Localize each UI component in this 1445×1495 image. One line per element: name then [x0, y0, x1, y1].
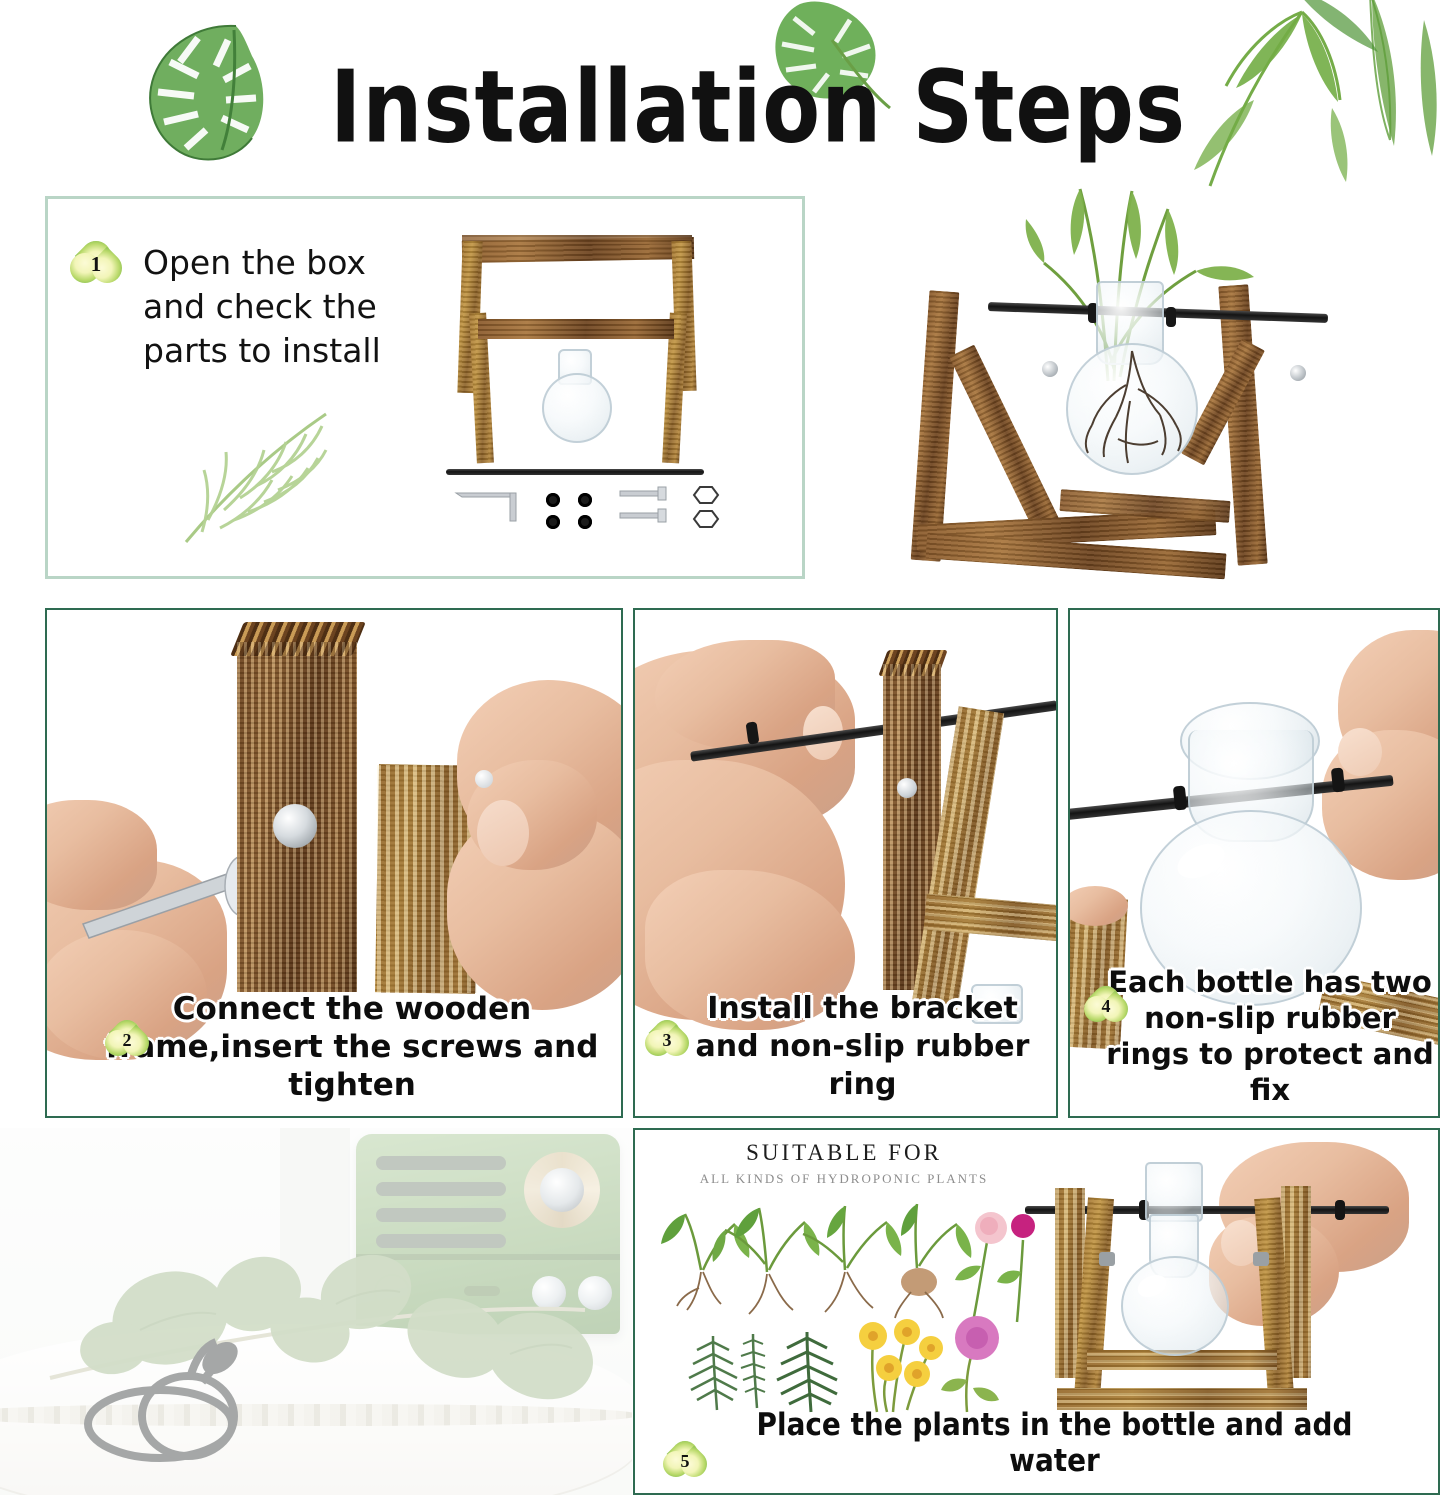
- step-1-panel: 1 Open the box and check the parts to in…: [45, 196, 805, 579]
- fern-frond-thin: [741, 1334, 765, 1408]
- nuts-icon: [690, 485, 724, 533]
- rooted-cutting-3: [803, 1206, 901, 1312]
- fern-frond-1: [689, 1336, 737, 1410]
- step-2-number: 2: [105, 1020, 149, 1060]
- monstera-leaf-icon: [140, 18, 320, 168]
- plant-roots-icon: [1068, 345, 1200, 477]
- screws-icon: [618, 485, 676, 531]
- step-3-badge: 3: [645, 1020, 689, 1060]
- step-5-caption: Place the plants in the bottle and add w…: [675, 1407, 1398, 1479]
- assembled-stand-photo: [1013, 1156, 1433, 1436]
- pink-rose: [955, 1212, 1007, 1322]
- rooted-cutting-2: [713, 1208, 820, 1314]
- rubber-ring-right: [1331, 767, 1345, 792]
- step-5-badge: 5: [663, 1441, 707, 1481]
- step-3-caption: Install the bracket and non-slip rubber …: [635, 990, 1056, 1104]
- hydroponic-propagation-station-photo: [880, 195, 1360, 585]
- suitable-for-title: SUITABLE FOR: [649, 1140, 1039, 1166]
- fingernail: [477, 800, 529, 866]
- header: Installation Steps: [0, 0, 1445, 185]
- fingernail: [1338, 728, 1382, 776]
- step-2-badge: 2: [105, 1020, 149, 1060]
- step-5-panel: SUITABLE FOR ALL KINDS OF HYDROPONIC PLA…: [633, 1128, 1440, 1495]
- clover-badge-icon: 2: [105, 1020, 149, 1060]
- step-5-number: 5: [663, 1441, 707, 1481]
- step-3-panel: 3 Install the bracket and non-slip rubbe…: [633, 608, 1058, 1118]
- clover-badge-icon: 3: [645, 1020, 689, 1060]
- suitable-for-block: SUITABLE FOR ALL KINDS OF HYDROPONIC PLA…: [649, 1140, 1039, 1430]
- allen-key-icon: [452, 485, 524, 525]
- fern-frond-2: [777, 1332, 837, 1412]
- styled-tabletop-photo: [0, 1128, 632, 1495]
- step-4-badge: 4: [1084, 986, 1128, 1026]
- step-4-panel: 4 Each bottle has two non-slip rubber ri…: [1068, 608, 1440, 1118]
- suitable-for-subtitle: ALL KINDS OF HYDROPONIC PLANTS: [649, 1171, 1039, 1187]
- parts-layout-photo: [438, 221, 783, 561]
- rooted-bulb-plant: [895, 1204, 971, 1318]
- step-1-text: Open the box and check the parts to inst…: [143, 241, 408, 373]
- pink-aster: [941, 1316, 999, 1412]
- rubber-ring-left: [1173, 785, 1187, 810]
- step-1-badge: 1: [70, 241, 122, 287]
- step-3-number: 3: [645, 1020, 689, 1060]
- palm-leaf-decor-icon: [168, 394, 348, 549]
- clover-badge-icon: 4: [1084, 986, 1128, 1026]
- step-1-number: 1: [70, 241, 122, 287]
- step-2-panel: 2 Connect the wooden frame,insert the sc…: [45, 608, 623, 1118]
- rooted-cutting-1: [661, 1214, 749, 1310]
- step-4-number: 4: [1084, 986, 1128, 1026]
- clover-badge-icon: 5: [663, 1441, 707, 1481]
- page-title: Installation Steps: [330, 50, 1186, 166]
- plant-illustrations-group: [655, 1192, 1035, 1422]
- yellow-daisies: [859, 1319, 943, 1412]
- clover-badge-icon: 1: [70, 241, 122, 287]
